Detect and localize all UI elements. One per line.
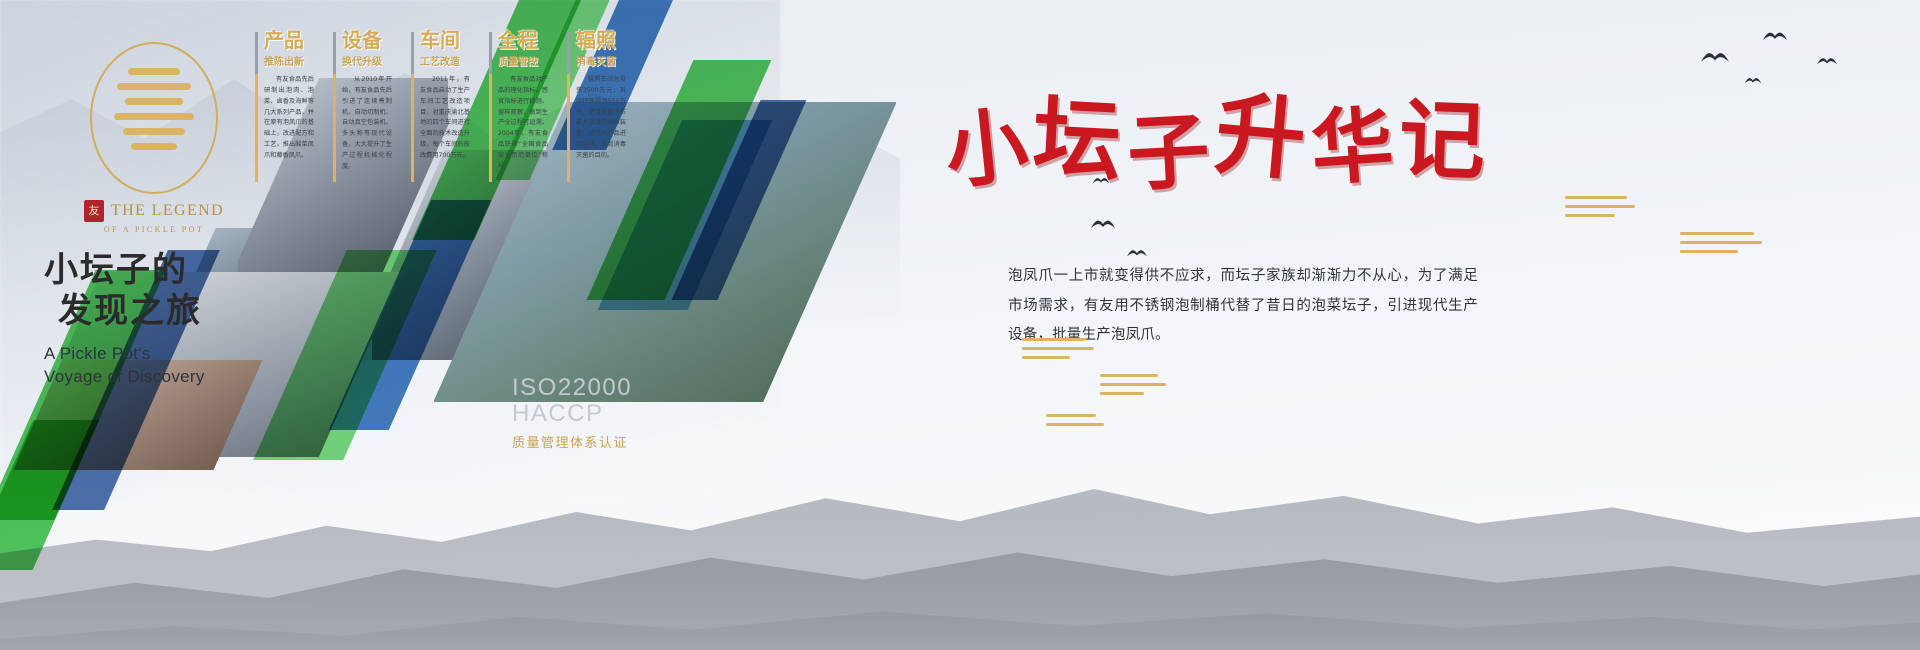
- brand-title-cn-line2: 发现之旅: [44, 291, 264, 332]
- headline-char: 记: [1398, 97, 1487, 186]
- flying-bird-icon: [1816, 56, 1838, 66]
- column-subheading: 质量管控: [498, 53, 551, 68]
- info-column-product: 产品 推陈出新 有友食品先后研制出泡肉、泡菜、卤香及海鲜等几大系列产品，并在原有…: [255, 30, 317, 162]
- column-subheading: 推陈出新: [264, 53, 317, 68]
- red-chop-icon: 友: [84, 200, 104, 222]
- column-heading: 产品: [264, 30, 317, 51]
- flying-bird-icon: [1744, 76, 1762, 85]
- column-heading: 设备: [342, 30, 395, 51]
- info-column-equipment: 设备 换代升级 从2010年开始，有友食品先后引进了连续煮制机、自动切制机、自动…: [333, 30, 395, 173]
- brand-legend-sub: OF A PICKLE POT: [44, 225, 264, 234]
- column-body: 有友食品先后研制出泡肉、泡菜、卤香及海鲜等几大系列产品，并在原有泡凤爪的基础上，…: [264, 75, 314, 162]
- column-rule: [333, 32, 336, 182]
- column-rule: [411, 32, 414, 182]
- flying-bird-icon: [1762, 30, 1788, 42]
- column-heading: 车间: [420, 30, 473, 51]
- brand-title-en-line2: Voyage of Discovery: [44, 366, 264, 389]
- column-body: 有友食品对产品的理化指标、感官指标进行检测、留样观察，做到生产全过程可追溯。20…: [498, 75, 548, 173]
- brand-legend-en: THE LEGEND: [111, 202, 224, 220]
- certification-block: ISO22000 HACCP 质量管理体系认证: [512, 375, 632, 451]
- headline-char: 华: [1309, 103, 1397, 191]
- column-rule: [567, 32, 570, 182]
- headline-calligraphy: 小 坛 子 升 华 记: [935, 88, 1495, 198]
- flying-bird-icon: [1090, 218, 1116, 230]
- column-body: 从2010年开始，有友食品先后引进了连续煮制机、自动切制机、自动真空包装机、多头…: [342, 75, 392, 173]
- headline-char: 子: [1125, 110, 1211, 196]
- brand-title-cn: 小坛子的 发现之旅: [44, 250, 264, 333]
- brand-wordmark: 友 THE LEGEND: [44, 200, 264, 222]
- brand-block: 友 THE LEGEND OF A PICKLE POT 小坛子的 发现之旅 A…: [44, 42, 264, 389]
- info-column-quality: 全程 质量管控 有友食品对产品的理化指标、感官指标进行检测、留样观察，做到生产全…: [489, 30, 551, 173]
- flying-bird-icon: [1700, 50, 1730, 64]
- certification-zh: 质量管理体系认证: [512, 432, 632, 451]
- gold-cloud-motif-icon: [1565, 196, 1635, 223]
- column-body: 2011年，有友食品启动了生产车间工艺改造项目，对重庆渝北基地的四个车间进行全面…: [420, 75, 470, 162]
- gold-cloud-motif-icon: [1100, 374, 1164, 401]
- column-rule: [255, 32, 258, 182]
- column-body: 辐照车间总投资3500万元，其中环保投资550万元，是目前重庆市最大活度的辐照装…: [576, 75, 626, 162]
- flying-bird-icon: [1092, 176, 1110, 185]
- info-column-workshop: 车间 工艺改造 2011年，有友食品启动了生产车间工艺改造项目，对重庆渝北基地的…: [411, 30, 473, 162]
- column-subheading: 换代升级: [342, 53, 395, 68]
- column-subheading: 消毒灭菌: [576, 53, 629, 68]
- brand-title-en: A Pickle Pot's Voyage of Discovery: [44, 343, 264, 389]
- certification-iso: ISO22000: [512, 375, 632, 401]
- flying-bird-icon: [1126, 248, 1148, 258]
- column-rule: [489, 32, 492, 182]
- column-subheading: 工艺改造: [420, 53, 473, 68]
- column-heading: 全程: [498, 30, 551, 51]
- headline-char: 小: [942, 104, 1032, 194]
- gold-cloud-motif-icon: [1680, 232, 1760, 259]
- headline-char: 升: [1212, 88, 1310, 186]
- gold-cloud-motif-icon: [1046, 414, 1102, 432]
- column-heading: 辐照: [576, 30, 629, 51]
- info-column-irradiation: 辐照 消毒灭菌 辐照车间总投资3500万元，其中环保投资550万元，是目前重庆市…: [567, 30, 629, 162]
- brand-title-cn-line1: 小坛子的: [44, 250, 264, 291]
- brand-title-en-line1: A Pickle Pot's: [44, 343, 264, 366]
- headline-char: 坛: [1031, 93, 1124, 185]
- pickle-pot-seal-icon: [90, 42, 218, 194]
- gold-cloud-motif-icon: [1022, 338, 1092, 365]
- certification-haccp: HACCP: [512, 401, 632, 427]
- poster-canvas: 友 THE LEGEND OF A PICKLE POT 小坛子的 发现之旅 A…: [0, 0, 1920, 650]
